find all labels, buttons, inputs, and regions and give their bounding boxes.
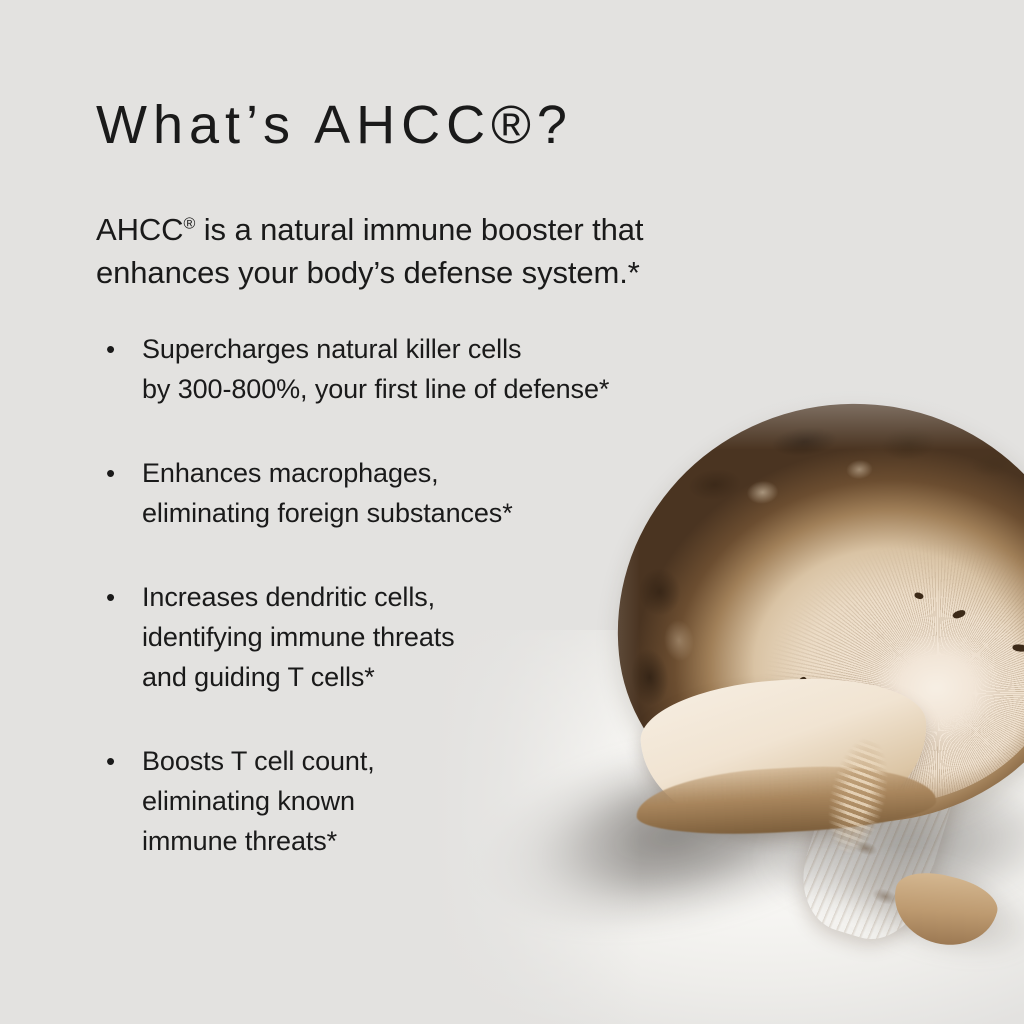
list-item-line: identifying immune threats — [142, 622, 455, 652]
subheading-brand: AHCC — [96, 212, 183, 247]
subheading: AHCC® is a natural immune booster that e… — [96, 208, 866, 295]
bullet-dot-icon: • — [96, 742, 142, 862]
list-item-line: eliminating foreign substances* — [142, 498, 513, 528]
bullet-dot-icon: • — [96, 578, 142, 698]
list-item-line: and guiding T cells* — [142, 662, 375, 692]
subheading-line2: enhances your body’s defense system.* — [96, 255, 640, 290]
list-item-line: by 300-800%, your first line of defense* — [142, 374, 609, 404]
list-item-line: Boosts T cell count, — [142, 746, 375, 776]
list-item-line: Increases dendritic cells, — [142, 582, 435, 612]
list-item: • Increases dendritic cells, identifying… — [96, 578, 796, 698]
registered-trademark-icon: ® — [183, 215, 195, 233]
list-item-text: Supercharges natural killer cells by 300… — [142, 330, 796, 410]
ahcc-info-graphic: What’s AHCC®? AHCC® is a natural immune … — [0, 0, 1024, 1024]
list-item-text: Boosts T cell count, eliminating known i… — [142, 742, 796, 862]
list-item-text: Enhances macrophages, eliminating foreig… — [142, 454, 796, 534]
benefits-list: • Supercharges natural killer cells by 3… — [96, 330, 796, 906]
list-item-line: Supercharges natural killer cells — [142, 334, 521, 364]
list-item-line: Enhances macrophages, — [142, 458, 439, 488]
list-item: • Enhances macrophages, eliminating fore… — [96, 454, 796, 534]
subheading-line1-rest: is a natural immune booster that — [195, 212, 643, 247]
bullet-dot-icon: • — [96, 330, 142, 410]
bullet-dot-icon: • — [96, 454, 142, 534]
list-item-line: immune threats* — [142, 826, 337, 856]
list-item-text: Increases dendritic cells, identifying i… — [142, 578, 796, 698]
list-item-line: eliminating known — [142, 786, 355, 816]
list-item: • Supercharges natural killer cells by 3… — [96, 330, 796, 410]
page-title: What’s AHCC®? — [96, 96, 573, 155]
list-item: • Boosts T cell count, eliminating known… — [96, 742, 796, 862]
